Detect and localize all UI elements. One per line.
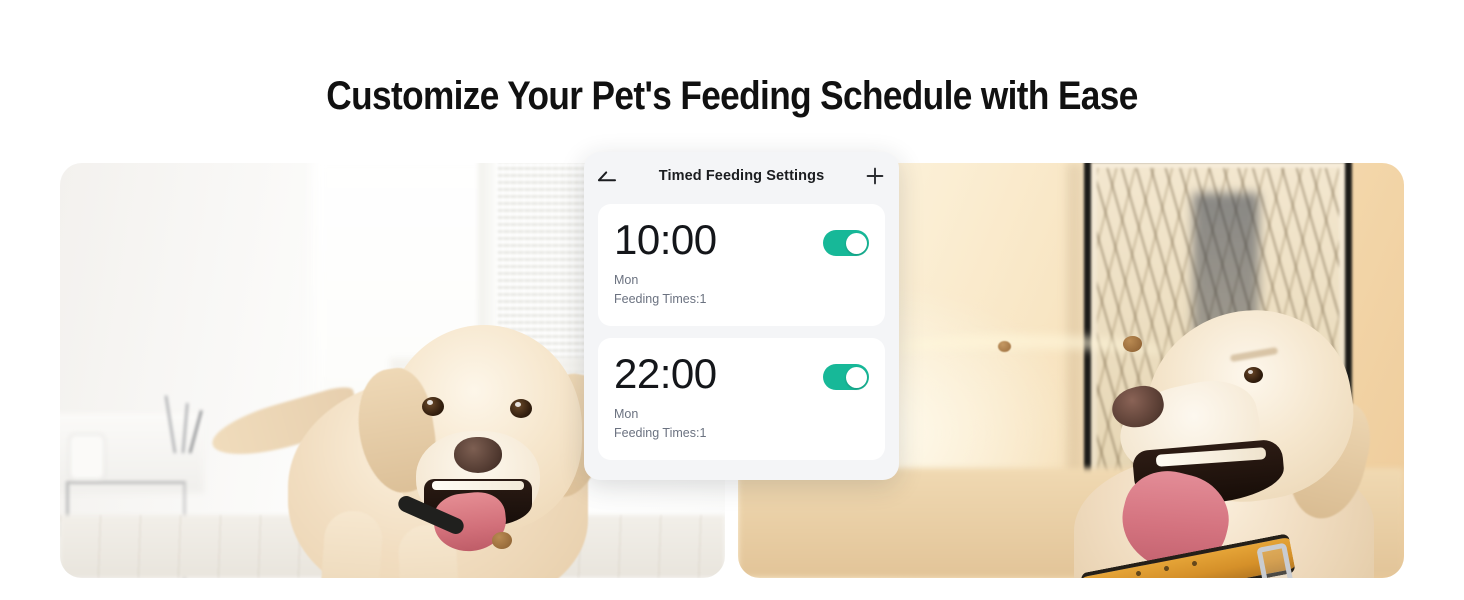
dog-right — [1064, 303, 1404, 578]
dog-eye-right — [510, 399, 532, 418]
toggle-knob — [846, 367, 867, 388]
dog-eye — [1244, 367, 1263, 383]
panel-title: Timed Feeding Settings — [659, 168, 824, 184]
schedule-card[interactable]: 10:00 Mon Feeding Times:1 — [598, 204, 885, 326]
schedule-card[interactable]: 22:00 Mon Feeding Times:1 — [598, 338, 885, 460]
plus-icon[interactable] — [864, 165, 886, 187]
schedule-day: Mon — [614, 405, 869, 424]
dog-left — [210, 311, 640, 578]
plant-stems — [156, 391, 208, 453]
vase — [70, 435, 104, 479]
panel-header: Timed Feeding Settings — [584, 152, 899, 200]
dog-eye-left — [422, 397, 444, 416]
schedule-toggle[interactable] — [823, 364, 869, 390]
dog-nose — [454, 437, 502, 473]
schedule-feeding-times: Feeding Times:1 — [614, 424, 869, 443]
toggle-knob — [846, 233, 867, 254]
dog-teeth — [432, 481, 524, 490]
page-title: Customize Your Pet's Feeding Schedule wi… — [88, 74, 1376, 119]
kibble-treat — [492, 532, 512, 549]
schedule-feeding-times: Feeding Times:1 — [614, 290, 869, 309]
schedule-day: Mon — [614, 271, 869, 290]
schedule-list: 10:00 Mon Feeding Times:1 22:00 Mon Feed… — [584, 200, 899, 460]
timed-feeding-panel: Timed Feeding Settings 10:00 Mon Feeding… — [584, 152, 899, 480]
back-arrow-icon[interactable] — [596, 165, 618, 187]
schedule-toggle[interactable] — [823, 230, 869, 256]
kibble-treat-far — [998, 341, 1011, 352]
